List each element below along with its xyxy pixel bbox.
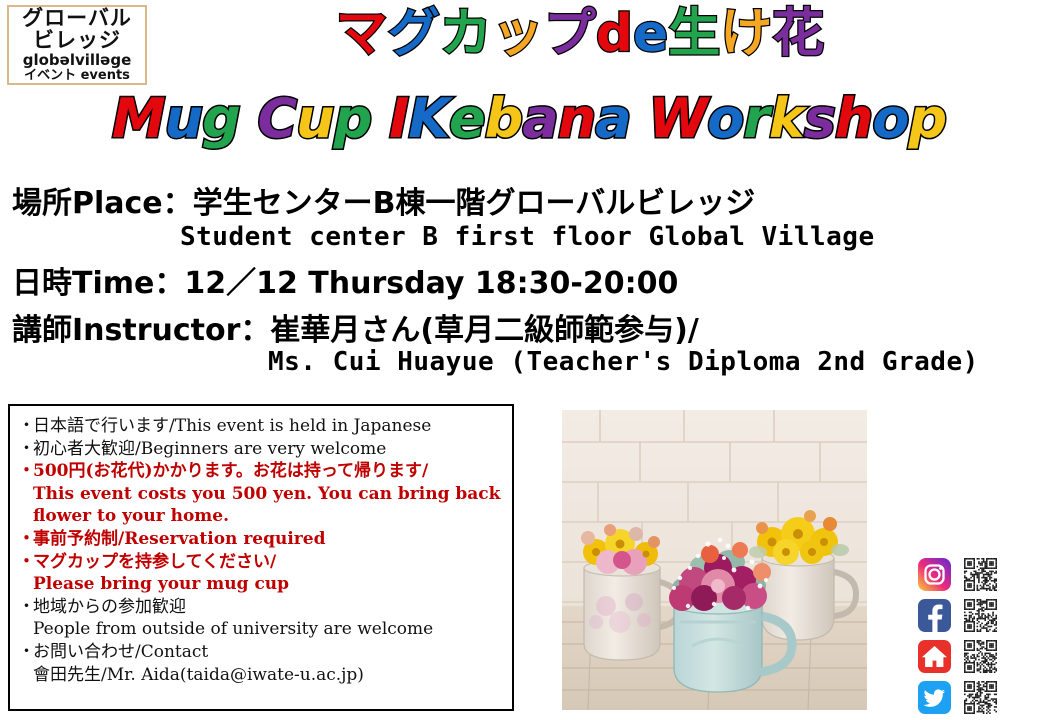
title-jp-char-6: e [633,8,668,60]
title-en-char-9: K [408,92,449,146]
note-text: Please bring your mug cup [18,573,289,596]
instagram-icon[interactable] [918,558,951,591]
title-jp-char-4: プ [544,8,596,60]
note-line-continuation: This event costs you 500 yen. You can br… [18,483,506,506]
title-en-char-14: a [595,92,630,146]
place-label-japanese: 場所Place：学生センターB棟一階グローバルビレッジ [12,178,755,222]
note-line-continuation: People from outside of university are we… [18,618,506,641]
note-line-continuation: flower to your home. [18,505,506,528]
note-item: ・日本語で行います/This event is held in Japanese [18,415,506,438]
logo-english-line2: イベント events [24,69,130,83]
bullet-icon: ・ [18,438,33,461]
ikebana-mug-photo [562,410,867,710]
twitter-icon[interactable] [918,681,951,714]
note-text: flower to your home. [18,505,229,528]
bullet-icon: ・ [18,596,33,619]
note-item: ・初心者大歓迎/Beginners are very welcome [18,438,506,461]
note-text: This event costs you 500 yen. You can br… [18,483,500,506]
note-line-continuation: 會田先生/Mr. Aida(taida@iwate-u.ac.jp) [18,664,506,687]
note-line-primary: ・初心者大歓迎/Beginners are very welcome [18,438,506,461]
title-en-char-16: W [649,92,708,146]
title-en-char-12: a [522,92,557,146]
qr-code-facebook[interactable] [964,599,997,632]
title-en-char-11: b [485,92,523,146]
title-en-char-20: s [804,92,835,146]
title-jp-char-9: 花 [772,8,824,60]
title-en-char-5: u [296,92,333,146]
title-jp-char-7: 生 [668,8,720,60]
title-jp-char-0: マ [336,8,388,60]
note-line-continuation: Please bring your mug cup [18,573,506,596]
bullet-icon: ・ [18,460,33,483]
photo-illustration [562,410,867,710]
title-en-char-7 [371,92,389,146]
facebook-icon[interactable] [918,599,951,632]
title-en-char-23: p [908,92,946,146]
bullet-icon: ・ [18,415,33,438]
title-en-char-18: r [743,92,769,146]
note-line-primary: ・マグカップを持参してください/ [18,551,506,574]
title-japanese: マグカップde生け花 [0,8,1040,60]
bullet-icon: ・ [18,528,33,551]
note-item: ・お問い合わせ/Contact會田先生/Mr. Aida(taida@iwate… [18,641,506,686]
note-line-primary: ・お問い合わせ/Contact [18,641,506,664]
instructor-label-japanese: 講師Instructor：崔華月さん(草月二級師範参与)/ [12,305,699,349]
title-en-char-0: M [112,92,165,146]
note-text: People from outside of university are we… [18,618,433,641]
title-jp-char-8: け [720,8,772,60]
place-label-english: Student center B first floor Global Vill… [180,222,875,252]
note-text: 日本語で行います/This event is held in Japanese [33,415,506,438]
note-item: ・地域からの参加歓迎People from outside of univers… [18,596,506,641]
social-row-facebook [918,599,1030,632]
note-text: お問い合わせ/Contact [33,641,506,664]
qr-code-home[interactable] [964,640,997,673]
title-en-char-21: h [835,92,872,146]
bullet-icon: ・ [18,641,33,664]
note-line-primary: ・日本語で行います/This event is held in Japanese [18,415,506,438]
note-item: ・事前予約制/Reservation required [18,528,506,551]
note-text: 500円(お花代)かかります。お花は持って帰ります/ [33,460,506,483]
note-text: 地域からの参加歓迎 [33,596,506,619]
title-jp-char-3: ッ [492,8,544,60]
title-en-char-4: C [258,92,297,146]
title-en-char-8: I [389,92,408,146]
note-text: マグカップを持参してください/ [33,551,506,574]
social-links-column [918,558,1030,714]
note-line-primary: ・500円(お花代)かかります。お花は持って帰ります/ [18,460,506,483]
social-row-instagram [918,558,1030,591]
social-row-twitter [918,681,1030,714]
note-item: ・マグカップを持参してください/Please bring your mug cu… [18,551,506,596]
qr-code-instagram[interactable] [964,558,997,591]
title-en-char-10: e [449,92,485,146]
title-en-char-13: n [558,92,595,146]
notes-box: ・日本語で行います/This event is held in Japanese… [8,404,514,711]
note-text: 會田先生/Mr. Aida(taida@iwate-u.ac.jp) [18,664,364,687]
title-en-char-19: k [769,92,804,146]
note-text: 事前予約制/Reservation required [33,528,506,551]
title-english: Mug Cup IKebana Workshop [0,92,1040,146]
time-label: 日時Time：12／12 Thursday 18:30-20:00 [12,258,678,302]
qr-code-twitter[interactable] [964,681,997,714]
note-line-primary: ・事前予約制/Reservation required [18,528,506,551]
title-jp-char-2: カ [440,8,492,60]
note-line-primary: ・地域からの参加歓迎 [18,596,506,619]
note-text: 初心者大歓迎/Beginners are very welcome [33,438,506,461]
bullet-icon: ・ [18,551,33,574]
title-jp-char-1: グ [388,8,440,60]
title-en-char-22: o [872,92,908,146]
social-row-home [918,640,1030,673]
title-jp-char-5: d [596,8,633,60]
title-en-char-6: p [334,92,372,146]
title-en-char-17: o [707,92,743,146]
title-en-char-15 [631,92,649,146]
instructor-label-english: Ms. Cui Huayue (Teacher's Diploma 2nd Gr… [268,347,979,377]
title-en-char-3 [240,92,258,146]
home-icon[interactable] [918,640,951,673]
title-en-char-2: g [202,92,240,146]
title-en-char-1: u [165,92,202,146]
note-item: ・500円(お花代)かかります。お花は持って帰ります/This event co… [18,460,506,528]
